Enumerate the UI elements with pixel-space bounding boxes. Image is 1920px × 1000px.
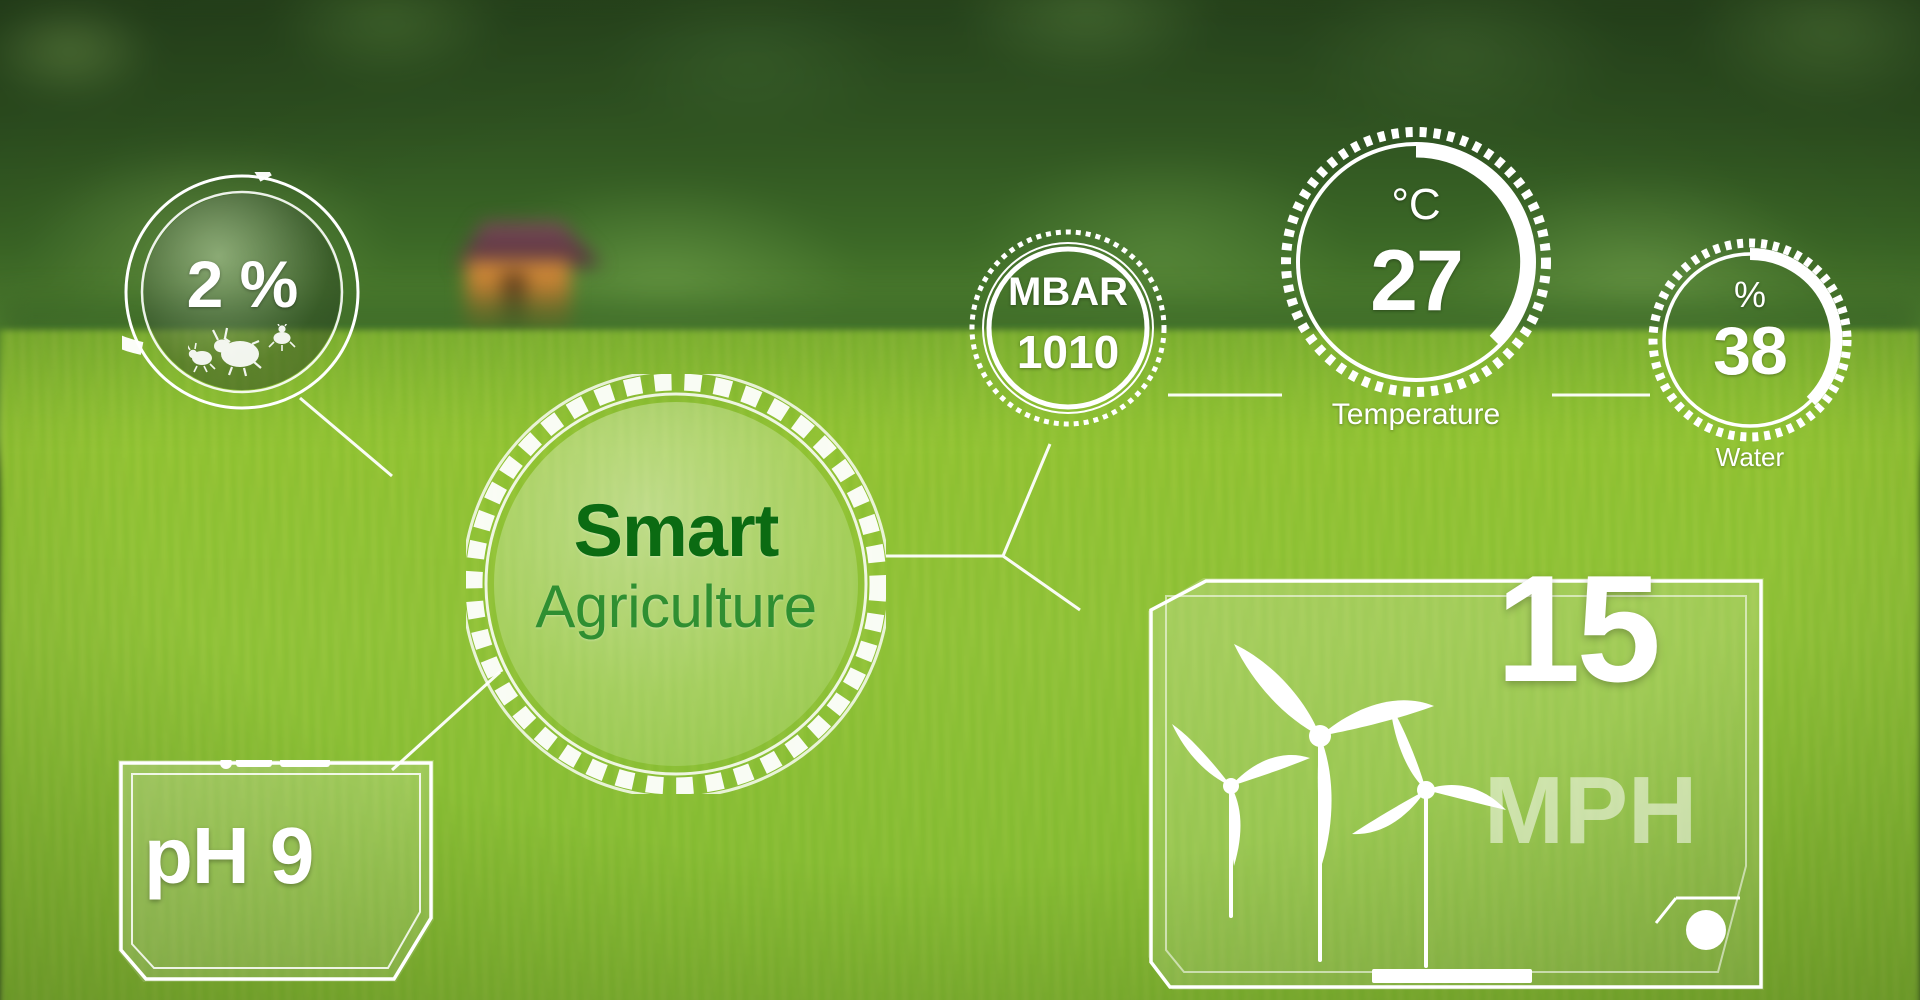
pressure-unit: MBAR (968, 270, 1168, 315)
gauge-pest[interactable]: 2 % (122, 172, 362, 412)
gauge-pressure[interactable]: MBAR 1010 (968, 228, 1168, 428)
insect-pest-icon (188, 324, 298, 378)
smart-agriculture-dashboard: 2 % (0, 0, 1920, 1000)
wind-unit: MPH (1484, 756, 1764, 866)
temperature-value: 27 (1280, 232, 1552, 331)
water-value: 38 (1648, 312, 1852, 390)
temperature-caption: Temperature (1270, 398, 1562, 432)
center-node-smart-agriculture[interactable]: Smart Agriculture (466, 374, 886, 794)
pest-value: 2 % (122, 246, 362, 322)
water-unit: % (1648, 274, 1852, 316)
panel-wind-speed[interactable]: 15 MPH (1148, 578, 1764, 990)
gauge-temperature[interactable]: °C 27 Temperature (1280, 126, 1552, 398)
temperature-unit: °C (1280, 180, 1552, 230)
hud-overlay: 2 % (0, 0, 1920, 1000)
wind-value: 15 (1496, 542, 1736, 717)
pressure-value: 1010 (968, 325, 1168, 379)
connector-hub-to-wind (1003, 556, 1080, 610)
water-caption: Water (1628, 442, 1872, 473)
center-title: Smart (466, 488, 886, 573)
panel-soil-ph[interactable]: pH 9 (118, 760, 434, 982)
center-subtitle: Agriculture (466, 572, 886, 641)
connector-hub-to-pressure (1003, 444, 1050, 556)
ph-value: pH 9 (144, 810, 424, 902)
gauge-water[interactable]: % 38 Water (1648, 238, 1852, 442)
